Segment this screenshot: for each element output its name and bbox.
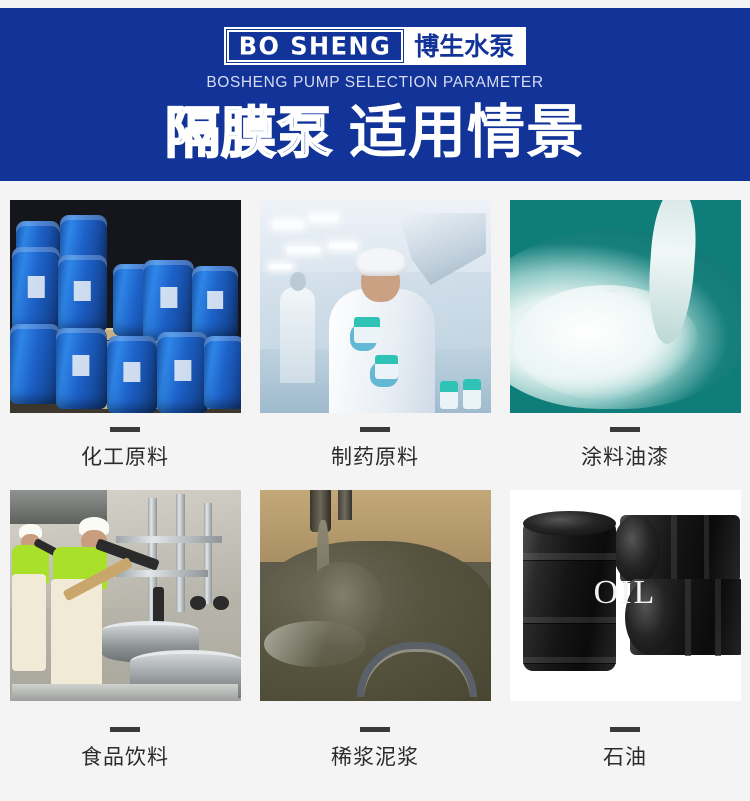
headline-solid-text: 适用情景 (349, 98, 585, 166)
scenario-label: 稀浆泥浆 (331, 741, 419, 771)
caption-dash-icon (110, 427, 140, 432)
banner-subtitle: BOSHENG PUMP SELECTION PARAMETER (206, 74, 543, 92)
scenario-caption: 食品饮料 (81, 727, 169, 771)
blue-chemical-drums-photo (10, 200, 241, 413)
food-beverage-workers-photo (10, 490, 241, 701)
headline-outline-text: 隔膜泵 (165, 101, 333, 166)
scenario-label: 涂料油漆 (581, 441, 669, 471)
scenario-card-pharmaceutical-raw-material[interactable]: 制药原料 (250, 181, 500, 471)
oil-barrels-photo: OIL (510, 490, 741, 701)
header-banner: BO SHENG 博生水泵 BOSHENG PUMP SELECTION PAR… (0, 8, 750, 181)
slurry-mud-tank-photo (260, 490, 491, 701)
logo-mark-english: BO SHENG (224, 27, 407, 65)
scenario-caption: 化工原料 (81, 427, 169, 471)
caption-dash-icon (610, 427, 640, 432)
caption-dash-icon (360, 727, 390, 732)
brand-logo: BO SHENG 博生水泵 (224, 27, 527, 65)
scenario-caption: 制药原料 (331, 427, 419, 471)
scenario-card-coating-paint[interactable]: 涂料油漆 (500, 181, 750, 471)
logo-mark-chinese: 博生水泵 (406, 27, 526, 65)
scenario-label: 制药原料 (331, 441, 419, 471)
scenario-caption: 石油 (603, 727, 647, 771)
caption-dash-icon (610, 727, 640, 732)
scenario-caption: 涂料油漆 (581, 427, 669, 471)
scenario-card-slurry-mud[interactable]: 稀浆泥浆 (250, 471, 500, 771)
oil-barrel-label: OIL (528, 574, 722, 612)
scenario-caption: 稀浆泥浆 (331, 727, 419, 771)
banner-headline: 隔膜泵 适用情景 (165, 98, 585, 166)
scenario-card-food-beverage[interactable]: 食品饮料 (0, 471, 250, 771)
logo-chinese-text: 博生水泵 (414, 34, 514, 59)
scenario-label: 食品饮料 (81, 741, 169, 771)
teal-paint-mixing-photo (510, 200, 741, 413)
scenario-card-petroleum[interactable]: OIL 石油 (500, 471, 750, 771)
caption-dash-icon (360, 427, 390, 432)
scenario-label: 石油 (603, 741, 647, 771)
scenario-card-chemical-raw-material[interactable]: 化工原料 (0, 181, 250, 471)
scenario-label: 化工原料 (81, 441, 169, 471)
application-scenarios-grid: 化工原料 (0, 181, 750, 801)
page-root: BO SHENG 博生水泵 BOSHENG PUMP SELECTION PAR… (0, 0, 750, 801)
pharmaceutical-lab-technician-photo (260, 200, 491, 413)
logo-english-text: BO SHENG (239, 33, 392, 58)
caption-dash-icon (110, 727, 140, 732)
